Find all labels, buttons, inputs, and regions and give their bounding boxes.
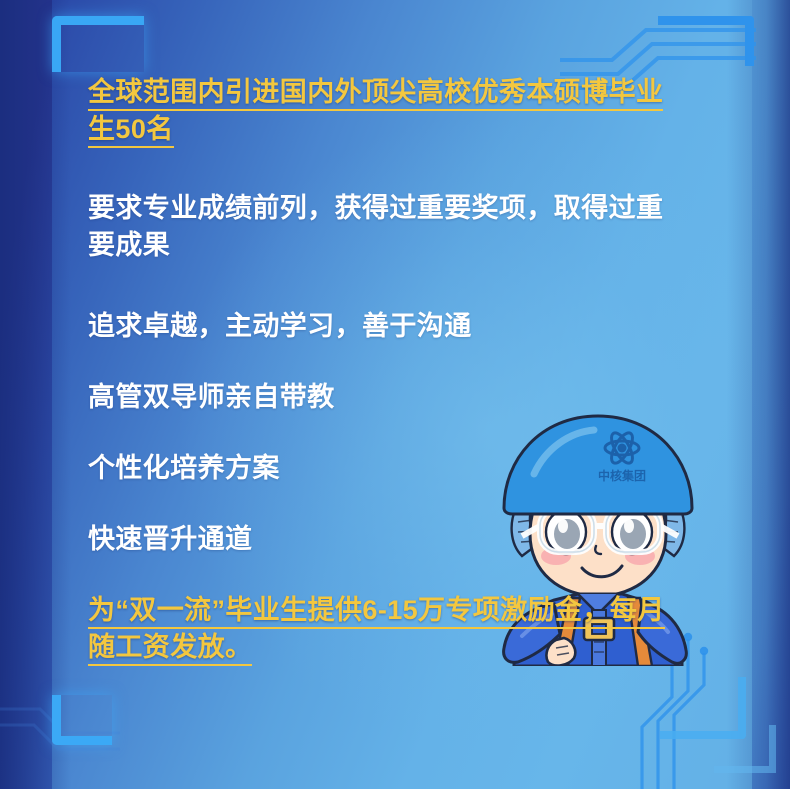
- headline-paragraph: 全球范围内引进国内外顶尖高校优秀本硕博毕业生50名: [88, 74, 688, 148]
- poster-text-content: 全球范围内引进国内外顶尖高校优秀本硕博毕业生50名 要求专业成绩前列，获得过重要…: [88, 74, 688, 666]
- corner-bracket-bottom-right-outer: [714, 725, 776, 773]
- qualities-paragraph: 追求卓越，主动学习，善于沟通: [88, 308, 688, 345]
- corner-bracket-bottom-left: [52, 695, 112, 745]
- headline-text: 全球范围内引进国内外顶尖高校优秀本硕博毕业生50名: [88, 77, 663, 148]
- incentive-paragraph: 为“双一流”毕业生提供6-15万专项激励金，每月随工资发放。: [88, 592, 688, 666]
- corner-bracket-top-right: [658, 16, 754, 66]
- mentorship-paragraph: 高管双导师亲自带教: [88, 379, 688, 416]
- promotion-paragraph: 快速晋升通道: [88, 521, 688, 558]
- requirements-paragraph: 要求专业成绩前列，获得过重要奖项，取得过重要成果: [88, 190, 688, 264]
- training-paragraph: 个性化培养方案: [88, 450, 688, 487]
- corner-bracket-top-left: [52, 16, 144, 72]
- poster-canvas: 中核集团 全球范围内引进国内外顶尖高校优秀本硕博毕业: [0, 0, 790, 789]
- incentive-text: 为“双一流”毕业生提供6-15万专项激励金，每月随工资发放。: [88, 595, 665, 666]
